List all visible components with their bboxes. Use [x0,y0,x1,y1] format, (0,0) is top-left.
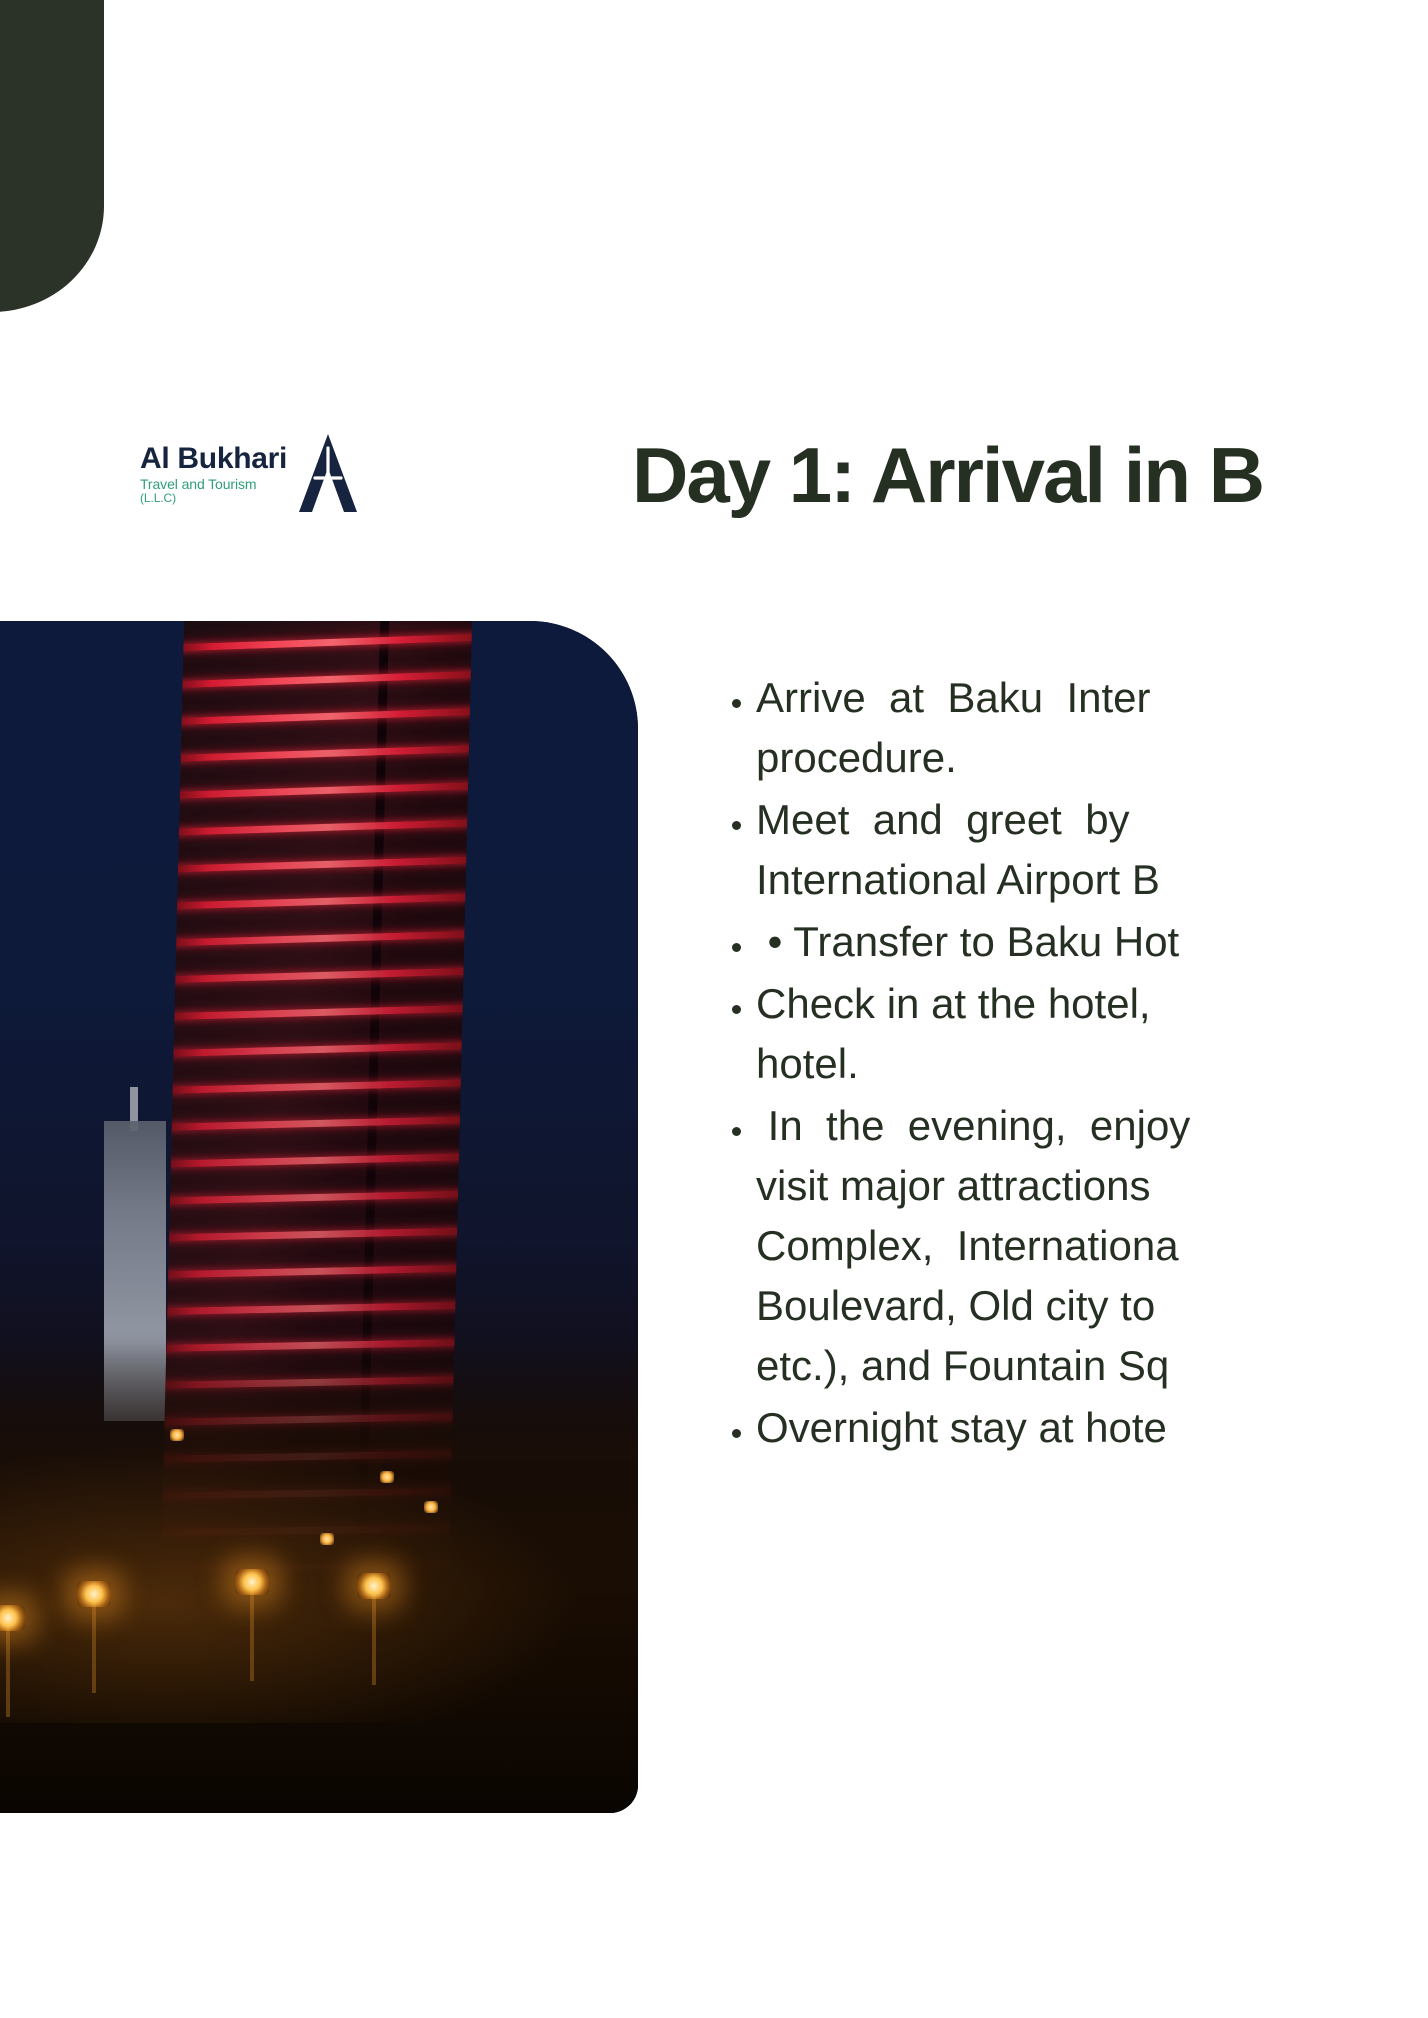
list-item: Arrive at Baku Inter procedure. [756,668,1428,788]
photo-distant-light [170,1429,184,1441]
page-title: Day 1: Arrival in B [632,430,1263,521]
photo-distant-light [320,1533,334,1545]
list-item: • Transfer to Baku Hot [756,912,1428,972]
photo-tower-light-band [173,819,472,835]
logo-company-name: Al Bukhari [140,444,287,474]
airplane-triangle-icon [297,432,359,516]
logo-text-block: Al Bukhari Travel and Tourism (L.L.C) [140,444,287,504]
decorative-half-circle [0,0,104,312]
photo-tower-light-band [165,1153,465,1167]
logo-entity-type: (L.L.C) [140,492,287,504]
brand-logo: Al Bukhari Travel and Tourism (L.L.C) [140,432,359,516]
photo-tower-light-band [172,856,472,872]
list-item: Meet and greet by International Airport … [756,790,1428,910]
photo-street-lamp [250,1585,254,1681]
photo-tower-light-band [170,931,470,947]
photo-tower-light-band [177,634,472,651]
photo-distant-light [424,1501,438,1513]
photo-tower-light-band [169,968,469,983]
photo-distant-light [380,1471,394,1483]
photo-tower-light-band [168,1042,468,1057]
photo-tower-light-band [161,1302,461,1315]
photo-tower-light-band [177,671,473,688]
list-item: Check in at the hotel, hotel. [756,974,1428,1094]
logo-tagline: Travel and Tourism [140,477,287,491]
photo-tower-light-band [174,782,472,799]
photo-street-lamp [6,1621,10,1717]
photo-tower-light-band [162,1265,462,1278]
list-item: Overnight stay at hote [756,1398,1428,1458]
photo-tower-light-band [175,745,473,762]
photo-street-lamp [372,1589,376,1685]
photo-tower-light-band [171,894,471,910]
list-item: In the evening, enjoy visit major attrac… [756,1096,1428,1396]
photo-tower-light-band [164,1191,464,1205]
baku-night-photo [0,621,638,1813]
photo-tower-light-band [176,708,473,725]
itinerary-bullet-list: Arrive at Baku Inter procedure. Meet and… [712,668,1428,1460]
photo-tower-light-band [163,1228,463,1242]
photo-street-lamp [92,1597,96,1693]
photo-tower-light-band [167,1079,467,1094]
photo-tower-light-band [166,1116,466,1130]
photo-tower-light-band [168,1005,468,1020]
